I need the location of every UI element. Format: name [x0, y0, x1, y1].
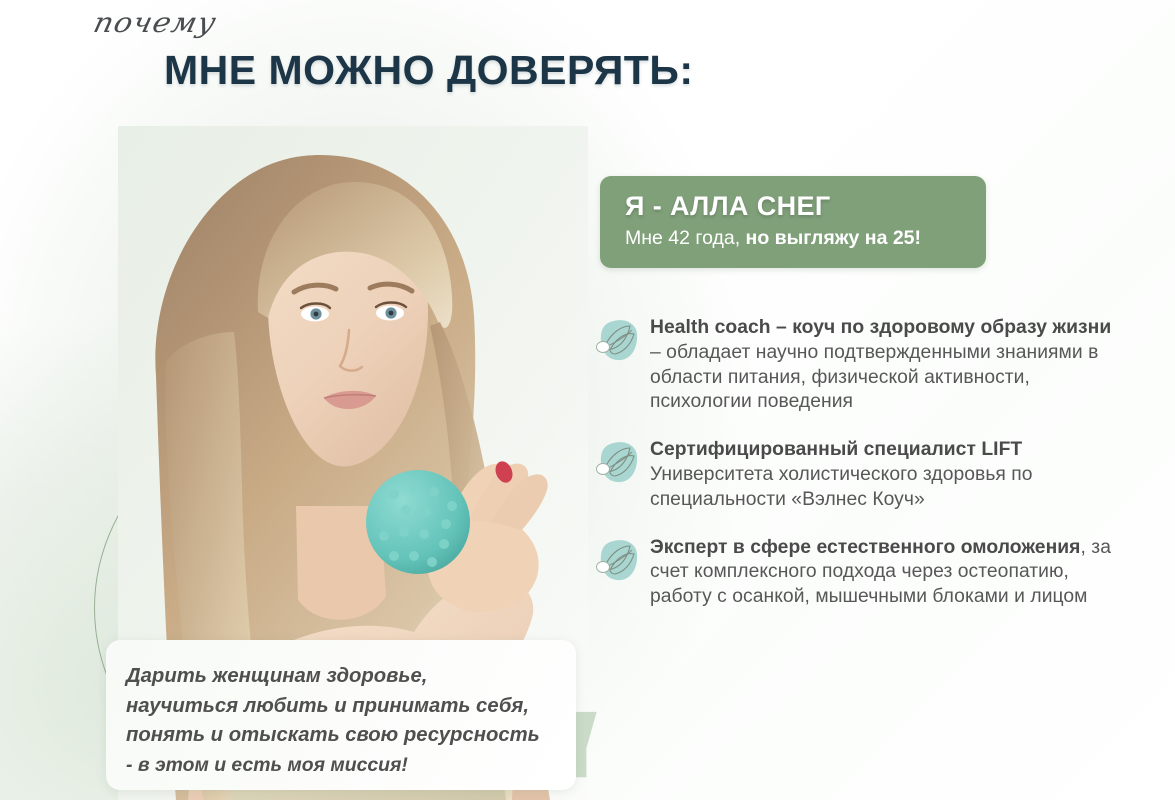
badge-subtitle-bold: но выгляжу на 25!	[746, 227, 921, 249]
list-item-rest: Университета холистического здоровья по …	[650, 464, 1033, 510]
list-item-bold: Health coach – коуч по здоровому образу …	[650, 317, 1111, 338]
list-item-bold: Сертифицированный специалист LIFT	[650, 439, 1022, 460]
list-item-text: Сертифицированный специалист LIFT Универ…	[650, 438, 1116, 512]
quote-line: - в этом и есть моя миссия!	[126, 751, 556, 781]
list-item: Health coach – коуч по здоровому образу …	[596, 316, 1116, 415]
badge-subtitle-regular: Мне 42 года,	[625, 227, 746, 249]
page-title: МНЕ МОЖНО ДОВЕРЯТЬ:	[164, 47, 686, 94]
leaf-icon	[596, 440, 642, 486]
list-item-rest: – обладает научно подтвержденными знания…	[650, 342, 1098, 413]
page-root: почему МНЕ МОЖНО ДОВЕРЯТЬ:	[0, 0, 1175, 800]
header: почему МНЕ МОЖНО ДОВЕРЯТЬ:	[86, 6, 686, 94]
leaf-icon	[596, 318, 642, 364]
name-badge: Я - АЛЛА СНЕГ Мне 42 года, но выгляжу на…	[600, 176, 986, 268]
leaf-icon	[596, 538, 642, 584]
quote-line: Дарить женщинам здоровье,	[126, 662, 556, 692]
list-item-text: Health coach – коуч по здоровому образу …	[650, 316, 1116, 415]
mission-quote-card: Дарить женщинам здоровье, научиться люби…	[106, 640, 576, 790]
quote-line: понять и отыскать свою ресурсность	[126, 721, 556, 751]
list-item: Эксперт в сфере естественного омоложения…	[596, 536, 1116, 610]
header-kicker: почему	[90, 7, 220, 39]
list-item-text: Эксперт в сфере естественного омоложения…	[650, 536, 1116, 610]
list-item: Сертифицированный специалист LIFT Универ…	[596, 438, 1116, 512]
list-item-bold: Эксперт в сфере естественного омоложения	[650, 537, 1080, 558]
quote-line: научиться любить и принимать себя,	[126, 692, 556, 722]
credentials-list: Health coach – коуч по здоровому образу …	[596, 316, 1116, 633]
badge-subtitle: Мне 42 года, но выгляжу на 25!	[625, 227, 986, 250]
badge-title: Я - АЛЛА СНЕГ	[625, 192, 986, 222]
